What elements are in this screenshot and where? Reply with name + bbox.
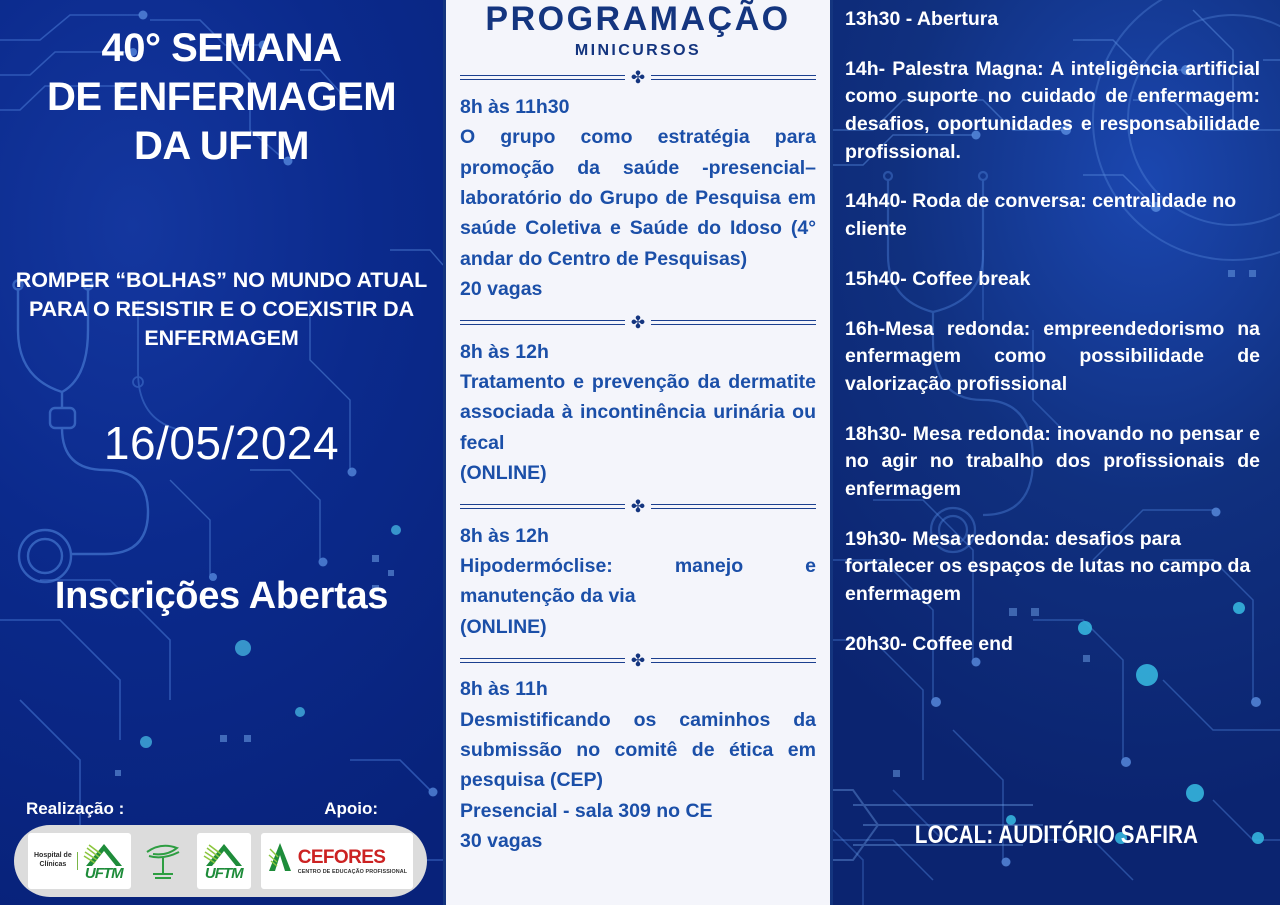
minicourse-desc-1: O grupo como estratégia para promoção da…: [460, 122, 816, 274]
minicourse-note-3: (ONLINE): [460, 612, 816, 642]
minicursos-subheading: MINICURSOS: [460, 42, 816, 60]
minicourse-vagas-1: 20 vagas: [460, 274, 816, 304]
cefores-text: CEFORES CENTRO DE EDUCAÇÃO PROFISSIONAL: [298, 848, 407, 875]
schedule-item-8: 20h30- Coffee end: [845, 631, 1260, 659]
minicourse-desc-3: Hipodermóclise: manejo e manutenção da v…: [460, 551, 816, 612]
divider-rule-left-2: [460, 504, 625, 509]
cefores-tagline: CENTRO DE EDUCAÇÃO PROFISSIONAL: [298, 869, 407, 875]
hospital-de-clinicas-text: Hospital de Clínicas: [34, 852, 78, 870]
hospital-de-clinicas-uftm-logo: Hospital de Clínicas: [28, 833, 131, 889]
registration-status: Inscrições Abertas: [8, 575, 435, 618]
minicourse-desc-4: Desmistificando os caminhos da submissão…: [460, 705, 816, 796]
minicourse-note-2: (ONLINE): [460, 458, 816, 488]
schedule-item-3: 14h40- Roda de conversa: centralidade no…: [845, 188, 1260, 243]
divider-rule-left-0: [460, 75, 625, 80]
ornament-divider-2: ✤: [460, 499, 816, 515]
cefores-leaf-icon: [267, 841, 293, 881]
minicourse-time-2: 8h às 12h: [460, 337, 816, 367]
uftm-wordmark-2: UFTM: [205, 866, 243, 881]
left-panel: 40° SEMANA DE ENFERMAGEM DA UFTM ROMPER …: [0, 0, 443, 905]
schedule-item-4: 15h40- Coffee break: [845, 266, 1260, 294]
fleuron-icon-0: ✤: [625, 69, 651, 86]
divider-rule-left-1: [460, 320, 625, 325]
divider-rule-right-0: [651, 75, 816, 80]
minicourse-note-4: Presencial - sala 309 no CE: [460, 796, 816, 826]
schedule-item-2: 14h- Palestra Magna: A inteligência arti…: [845, 56, 1260, 167]
cefores-logo: CEFORES CENTRO DE EDUCAÇÃO PROFISSIONAL: [261, 833, 413, 889]
title-line-3: DA UFTM: [8, 122, 435, 171]
sponsor-logos-row: Hospital de Clínicas: [14, 825, 429, 897]
uftm-mark-icon: UFTM: [83, 842, 125, 881]
schedule-item-5: 16h-Mesa redonda: empreendedorismo na en…: [845, 316, 1260, 399]
sponsors-section: Realização : Apoio: Hospital de Clínicas: [8, 799, 435, 897]
minicourse-time-1: 8h às 11h30: [460, 92, 816, 122]
poster-subtitle: ROMPER “BOLHAS” NO MUNDO ATUAL PARA O RE…: [8, 266, 435, 352]
event-poster: 40° SEMANA DE ENFERMAGEM DA UFTM ROMPER …: [0, 0, 1280, 905]
event-date: 16/05/2024: [8, 416, 435, 470]
uftm-wordmark: UFTM: [85, 866, 123, 881]
title-line-2: DE ENFERMAGEM: [8, 73, 435, 122]
realizacao-logo-pill: Hospital de Clínicas: [14, 825, 427, 897]
minicourse-time-3: 8h às 12h: [460, 521, 816, 551]
fleuron-icon-1: ✤: [625, 314, 651, 331]
schedule-item-1: 13h30 - Abertura: [845, 6, 1260, 34]
divider-rule-right-1: [651, 320, 816, 325]
fleuron-icon-3: ✤: [625, 652, 651, 669]
ornament-divider-0: ✤: [460, 70, 816, 86]
minicourses-panel: PROGRAMAÇÃO MINICURSOS ✤ 8h às 11h30 O g…: [443, 0, 833, 905]
schedule-panel: 13h30 - Abertura 14h- Palestra Magna: A …: [833, 0, 1280, 905]
uftm-mark-icon-2: UFTM: [203, 842, 245, 881]
programacao-heading: PROGRAMAÇÃO: [460, 2, 816, 38]
minicourse-desc-2: Tratamento e prevenção da dermatite asso…: [460, 367, 816, 458]
schedule-item-6: 18h30- Mesa redonda: inovando no pensar …: [845, 421, 1260, 504]
schedule-item-7: 19h30- Mesa redonda: desafios para forta…: [845, 526, 1260, 609]
minicourse-item-3: 8h às 12h Hipodermóclise: manejo e manut…: [460, 521, 816, 643]
minicourse-item-1: 8h às 11h30 O grupo como estratégia para…: [460, 92, 816, 305]
sponsor-labels: Realização : Apoio:: [14, 799, 429, 819]
minicourse-item-2: 8h às 12h Tratamento e prevenção da derm…: [460, 337, 816, 489]
event-location: LOCAL: AUDITÓRIO SAFIRA: [873, 821, 1240, 850]
hc-line-1: Hospital de: [34, 852, 72, 861]
hc-line-2: Clínicas: [34, 861, 72, 870]
subtitle-line-2: PARA O RESISTIR E O COEXISTIR DA: [12, 295, 431, 324]
minicourse-item-4: 8h às 11h Desmistificando os caminhos da…: [460, 674, 816, 856]
realizacao-label: Realização :: [26, 799, 124, 819]
uftm-roof-icon-2: [203, 842, 245, 868]
page-title: 40° SEMANA DE ENFERMAGEM DA UFTM: [8, 24, 435, 170]
subtitle-line-3: ENFERMAGEM: [12, 324, 431, 353]
ornament-divider-1: ✤: [460, 315, 816, 331]
minicourse-vagas-4: 30 vagas: [460, 826, 816, 856]
divider-rule-right-3: [651, 658, 816, 663]
apoio-label: Apoio:: [324, 799, 378, 819]
schedule-list: 13h30 - Abertura 14h- Palestra Magna: A …: [845, 6, 1260, 658]
ornament-divider-3: ✤: [460, 652, 816, 668]
divider-rule-left-3: [460, 658, 625, 663]
minicourse-time-4: 8h às 11h: [460, 674, 816, 704]
subtitle-line-1: ROMPER “BOLHAS” NO MUNDO ATUAL: [12, 266, 431, 295]
uftm-cefores-logo: UFTM: [197, 833, 251, 889]
divider-rule-right-2: [651, 504, 816, 509]
title-line-1: 40° SEMANA: [8, 24, 435, 73]
hygieia-bowl-icon: [141, 836, 187, 886]
cefores-wordmark: CEFORES: [298, 848, 407, 867]
fleuron-icon-2: ✤: [625, 498, 651, 515]
uftm-roof-icon: [83, 842, 125, 868]
